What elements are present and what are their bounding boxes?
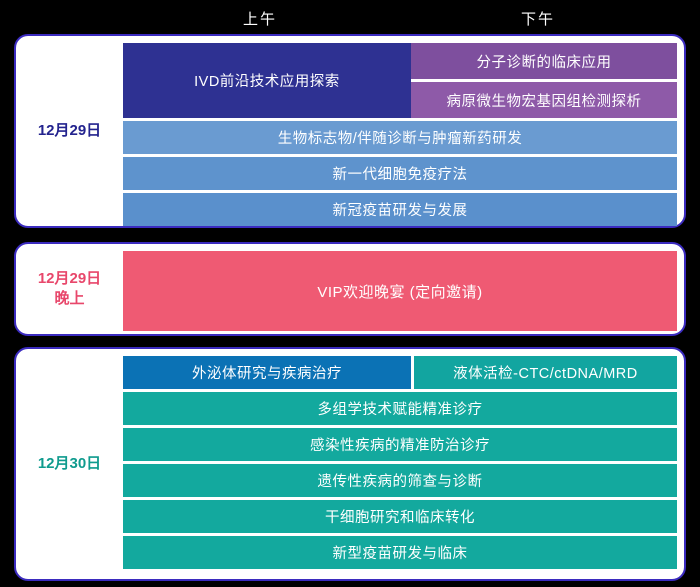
session-row: VIP欢迎晚宴 (定向邀请): [123, 251, 677, 331]
day-panel-dec29: 12月29日 IVD前沿技术应用探索 分子诊断的临床应用 病原微生物宏基因组检测…: [14, 34, 686, 228]
session-block[interactable]: 外泌体研究与疾病治疗: [123, 356, 411, 389]
header-label-morning: 上午: [243, 8, 277, 29]
session-block[interactable]: 病原微生物宏基因组检测探析: [411, 82, 677, 118]
session-rows-dec29-evening: VIP欢迎晚宴 (定向邀请): [123, 251, 677, 327]
session-block[interactable]: 遗传性疾病的筛查与诊断: [123, 464, 677, 497]
session-subcolumn: 分子诊断的临床应用 病原微生物宏基因组检测探析: [411, 43, 677, 118]
session-rows-dec30: 外泌体研究与疾病治疗 液体活检-CTC/ctDNA/MRD 多组学技术赋能精准诊…: [123, 356, 677, 572]
date-label-dec29: 12月29日: [16, 36, 123, 226]
session-rows-dec29: IVD前沿技术应用探索 分子诊断的临床应用 病原微生物宏基因组检测探析 生物标志…: [123, 43, 677, 219]
session-block[interactable]: 新冠疫苗研发与发展: [123, 193, 677, 226]
session-row: 干细胞研究和临床转化: [123, 500, 677, 533]
session-block[interactable]: 干细胞研究和临床转化: [123, 500, 677, 533]
session-row: 新型疫苗研发与临床: [123, 536, 677, 569]
header-label-afternoon: 下午: [521, 8, 555, 29]
session-row: IVD前沿技术应用探索 分子诊断的临床应用 病原微生物宏基因组检测探析: [123, 43, 677, 118]
session-row: 新一代细胞免疫疗法: [123, 157, 677, 190]
session-row: 遗传性疾病的筛查与诊断: [123, 464, 677, 497]
schedule-header: 上午 下午: [0, 0, 700, 34]
session-row: 新冠疫苗研发与发展: [123, 193, 677, 226]
session-row: 多组学技术赋能精准诊疗: [123, 392, 677, 425]
day-panel-dec30: 12月30日 外泌体研究与疾病治疗 液体活检-CTC/ctDNA/MRD 多组学…: [14, 347, 686, 581]
session-block[interactable]: 液体活检-CTC/ctDNA/MRD: [414, 356, 677, 389]
date-label-line1: 12月29日: [38, 269, 101, 289]
day-panel-dec29-evening: 12月29日 晚上 VIP欢迎晚宴 (定向邀请): [14, 242, 686, 336]
session-block[interactable]: 新型疫苗研发与临床: [123, 536, 677, 569]
session-block[interactable]: 感染性疾病的精准防治诊疗: [123, 428, 677, 461]
session-block[interactable]: 新一代细胞免疫疗法: [123, 157, 677, 190]
date-label-dec30: 12月30日: [16, 349, 123, 579]
session-row: 生物标志物/伴随诊断与肿瘤新药研发: [123, 121, 677, 154]
session-block[interactable]: 生物标志物/伴随诊断与肿瘤新药研发: [123, 121, 677, 154]
session-row: 外泌体研究与疾病治疗 液体活检-CTC/ctDNA/MRD: [123, 356, 677, 389]
date-label-dec29-evening: 12月29日 晚上: [16, 244, 123, 334]
session-block[interactable]: 多组学技术赋能精准诊疗: [123, 392, 677, 425]
session-block[interactable]: VIP欢迎晚宴 (定向邀请): [123, 251, 677, 331]
session-block[interactable]: 分子诊断的临床应用: [411, 43, 677, 79]
date-label-line2: 晚上: [38, 289, 101, 309]
session-block[interactable]: IVD前沿技术应用探索: [123, 43, 411, 118]
session-row: 感染性疾病的精准防治诊疗: [123, 428, 677, 461]
